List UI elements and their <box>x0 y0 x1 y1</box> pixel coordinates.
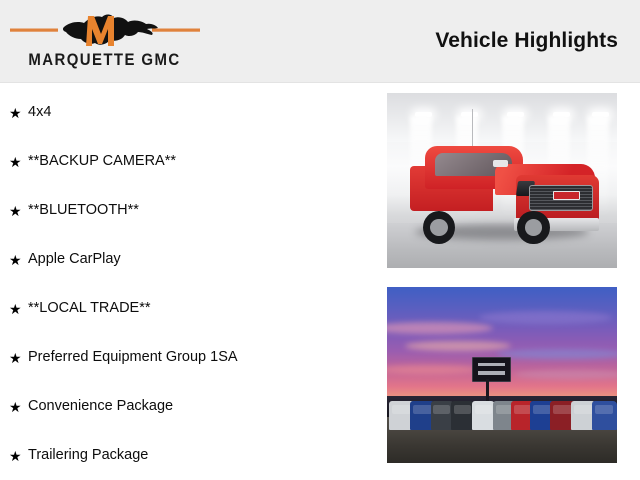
list-item: ★ Convenience Package <box>0 382 380 431</box>
star-bullet-icon: ★ <box>9 302 28 316</box>
star-bullet-icon: ★ <box>9 253 28 267</box>
list-item: ★ Preferred Equipment Group 1SA <box>0 333 380 382</box>
star-bullet-icon: ★ <box>9 449 28 463</box>
gmc-sierra-truck <box>410 142 599 240</box>
dealership-sign <box>472 357 511 382</box>
parked-vehicle <box>451 401 474 429</box>
cloud <box>514 370 618 379</box>
list-item: ★ **BACKUP CAMERA** <box>0 137 380 186</box>
star-bullet-icon: ★ <box>9 106 28 120</box>
highlight-label: Preferred Equipment Group 1SA <box>28 349 238 366</box>
page-header: MARQUETTE GMC Vehicle Highlights <box>0 0 640 82</box>
truck-rear-wheel <box>423 211 455 244</box>
highlight-label: Apple CarPlay <box>28 251 121 268</box>
page-title: Vehicle Highlights <box>435 29 618 53</box>
cloud <box>497 349 617 360</box>
dealer-logo[interactable]: MARQUETTE GMC <box>2 2 212 80</box>
parked-vehicle <box>592 401 617 429</box>
vehicle-photo-truck[interactable] <box>387 93 617 268</box>
cloud <box>387 322 493 334</box>
truck-antenna <box>472 109 473 146</box>
vehicle-highlights-page: MARQUETTE GMC Vehicle Highlights ★ 4x4 ★… <box>0 0 640 480</box>
gmc-badge-icon <box>553 191 580 200</box>
cloud <box>405 341 511 352</box>
truck-mirror <box>493 160 508 168</box>
studio-backdrop <box>387 93 617 268</box>
parked-vehicle <box>472 401 495 429</box>
cloud <box>387 365 479 374</box>
star-bullet-icon: ★ <box>9 204 28 218</box>
list-item: ★ **BLUETOOTH** <box>0 186 380 235</box>
highlight-label: **LOCAL TRADE** <box>28 300 151 317</box>
list-item: ★ **LOCAL TRADE** <box>0 284 380 333</box>
list-item: ★ Trailering Package <box>0 431 380 480</box>
vehicle-highlights-list: ★ 4x4 ★ **BACKUP CAMERA** ★ **BLUETOOTH*… <box>0 82 380 480</box>
parked-vehicle <box>431 401 454 429</box>
highlight-label: **BACKUP CAMERA** <box>28 153 176 170</box>
star-bullet-icon: ★ <box>9 351 28 365</box>
dealer-name: MARQUETTE GMC <box>14 50 194 70</box>
sign-text-line <box>478 371 506 374</box>
parked-vehicle-row <box>387 401 617 429</box>
truck-front-wheel <box>517 211 549 244</box>
upper-peninsula-michigan-silhouette-with-m-icon <box>2 10 207 50</box>
list-item: ★ Apple CarPlay <box>0 235 380 284</box>
sign-text-line <box>478 363 506 366</box>
highlight-label: **BLUETOOTH** <box>28 202 139 219</box>
dealership-photo-lot[interactable] <box>387 287 617 463</box>
list-item: ★ 4x4 <box>0 88 380 137</box>
highlight-label: Convenience Package <box>28 398 173 415</box>
highlight-label: Trailering Package <box>28 447 148 464</box>
cloud <box>479 311 612 324</box>
star-bullet-icon: ★ <box>9 155 28 169</box>
highlight-label: 4x4 <box>28 104 51 121</box>
star-bullet-icon: ★ <box>9 400 28 414</box>
